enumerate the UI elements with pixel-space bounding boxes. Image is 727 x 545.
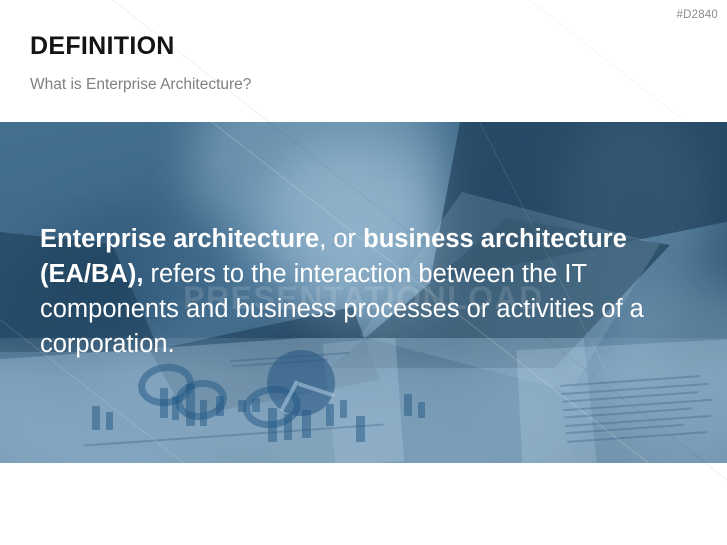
page-title: DEFINITION [30,34,175,59]
bar-graphic [216,396,224,416]
bar-graphic [106,412,113,430]
paragraph-bold-run: Enterprise architecture [40,225,319,253]
paragraph-run: , or [319,225,363,253]
bar-graphic [200,400,207,426]
slide-code: #D2840 [677,9,718,21]
content-banner: PRESENTATIONLOAD Enterprise architecture… [0,122,727,463]
definition-paragraph: Enterprise architecture, or business arc… [40,222,665,362]
bar-graphic [326,404,334,426]
page-subtitle: What is Enterprise Architecture? [30,77,251,93]
slide: #D2840 DEFINITION What is Enterprise Arc… [0,0,727,545]
bar-graphic [172,396,179,420]
bar-graphic [252,398,260,412]
bar-graphic [284,414,292,440]
bar-graphic [404,394,412,416]
bar-graphic [186,384,195,426]
bar-graphic [418,402,425,418]
bar-graphic [160,388,168,418]
bar-graphic [238,400,246,412]
bar-graphic [92,406,100,430]
slide-header: #D2840 DEFINITION What is Enterprise Arc… [0,0,727,122]
bar-graphic [340,400,347,418]
slide-footer [0,463,727,545]
bar-graphic [302,410,311,438]
bar-graphic [268,408,277,442]
bar-graphic [356,416,365,442]
